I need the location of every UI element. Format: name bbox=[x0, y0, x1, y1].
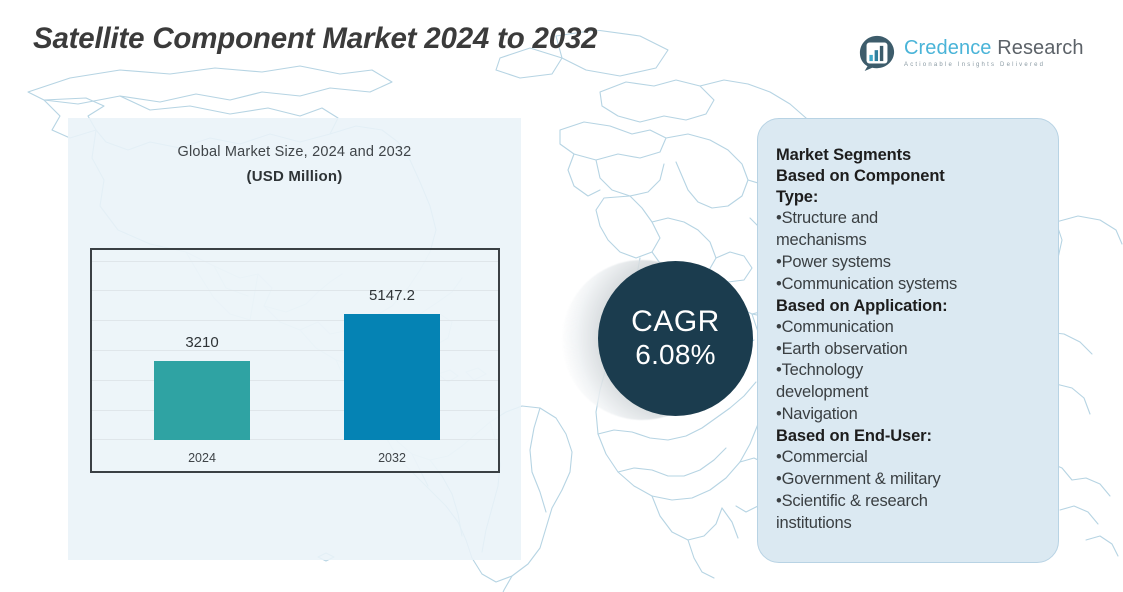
bar-chart-plot-area: 3210 5147.2 2024 2032 bbox=[90, 248, 500, 473]
segment-list-item: •Navigation bbox=[776, 404, 1046, 426]
segment-list-item: •Structure and bbox=[776, 208, 1046, 230]
cagr-circle: CAGR 6.08% bbox=[598, 261, 753, 416]
category-label-2032: 2032 bbox=[378, 451, 406, 465]
segment-list-item: institutions bbox=[776, 513, 1046, 535]
segment-list-item: development bbox=[776, 382, 1046, 404]
bar-value-2024: 3210 bbox=[185, 334, 218, 351]
bar-fill-2032 bbox=[344, 314, 440, 440]
segment-list-item: •Commercial bbox=[776, 447, 1046, 469]
bar-fill-2024 bbox=[154, 361, 250, 440]
segment-heading: Based on Application: bbox=[776, 296, 1046, 317]
segment-list-item: •Earth observation bbox=[776, 339, 1046, 361]
gridline bbox=[92, 261, 498, 262]
logo-name-research: Research bbox=[992, 37, 1084, 59]
segment-list-item: •Technology bbox=[776, 360, 1046, 382]
infographic-root: Satellite Component Market 2024 to 2032 … bbox=[0, 0, 1123, 592]
bar-value-2032: 5147.2 bbox=[369, 287, 415, 304]
segment-list-item: •Communication bbox=[776, 317, 1046, 339]
gridline bbox=[92, 290, 498, 291]
logo-wordmark: Credence Research Actionable Insights De… bbox=[904, 38, 1084, 68]
segment-heading: Type: bbox=[776, 187, 1046, 208]
segment-heading: Based on Component bbox=[776, 166, 1046, 187]
cagr-label: CAGR bbox=[631, 306, 720, 338]
page-title: Satellite Component Market 2024 to 2032 bbox=[33, 22, 597, 56]
bar-2024[interactable]: 3210 bbox=[154, 361, 250, 440]
logo-tagline: Actionable Insights Delivered bbox=[904, 62, 1084, 68]
segment-heading: Market Segments bbox=[776, 145, 1046, 166]
bar-2032[interactable]: 5147.2 bbox=[344, 314, 440, 440]
segment-list-item: •Communication systems bbox=[776, 274, 1046, 296]
segment-list-item: mechanisms bbox=[776, 230, 1046, 252]
market-segments-panel: Market SegmentsBased on ComponentType:•S… bbox=[757, 118, 1059, 563]
cagr-value: 6.08% bbox=[635, 340, 715, 371]
logo-name-credence: Credence bbox=[904, 37, 992, 59]
chart-heading: Global Market Size, 2024 and 2032 (USD M… bbox=[68, 144, 521, 185]
segment-list-item: •Power systems bbox=[776, 252, 1046, 274]
segment-list-item: •Government & military bbox=[776, 469, 1046, 491]
segment-list-item: •Scientific & research bbox=[776, 491, 1046, 513]
credence-research-logo[interactable]: Credence Research Actionable Insights De… bbox=[858, 30, 1048, 76]
chart-subtitle: (USD Million) bbox=[68, 168, 521, 185]
chart-title: Global Market Size, 2024 and 2032 bbox=[68, 144, 521, 160]
category-label-2024: 2024 bbox=[188, 451, 216, 465]
cagr-badge: CAGR 6.08% bbox=[558, 258, 758, 423]
segment-heading: Based on End-User: bbox=[776, 426, 1046, 447]
credence-bar-chart-logo-icon bbox=[858, 34, 896, 72]
